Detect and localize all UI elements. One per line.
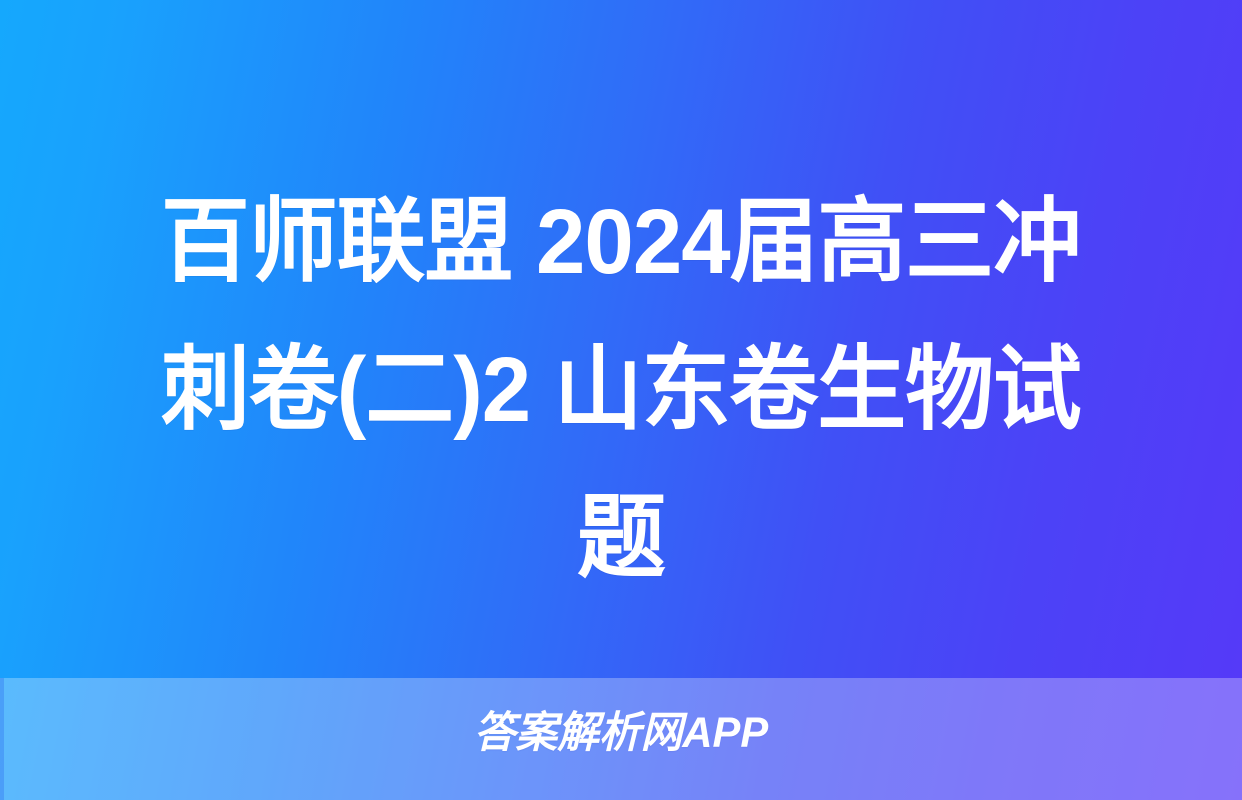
cover-banner: 百师联盟 2024届高三冲 刺卷(二)2 山东卷生物试 题 答案解析网APP	[0, 0, 1242, 800]
page-title-line-1: 百师联盟 2024届高三冲	[89, 168, 1152, 316]
page-title-line-3: 题	[89, 464, 1152, 612]
page-title: 百师联盟 2024届高三冲 刺卷(二)2 山东卷生物试 题	[22, 168, 1221, 612]
watermark-label: 答案解析网APP	[19, 707, 1224, 759]
page-title-line-2: 刺卷(二)2 山东卷生物试	[89, 316, 1152, 464]
footer-band-left-edge	[0, 678, 4, 800]
